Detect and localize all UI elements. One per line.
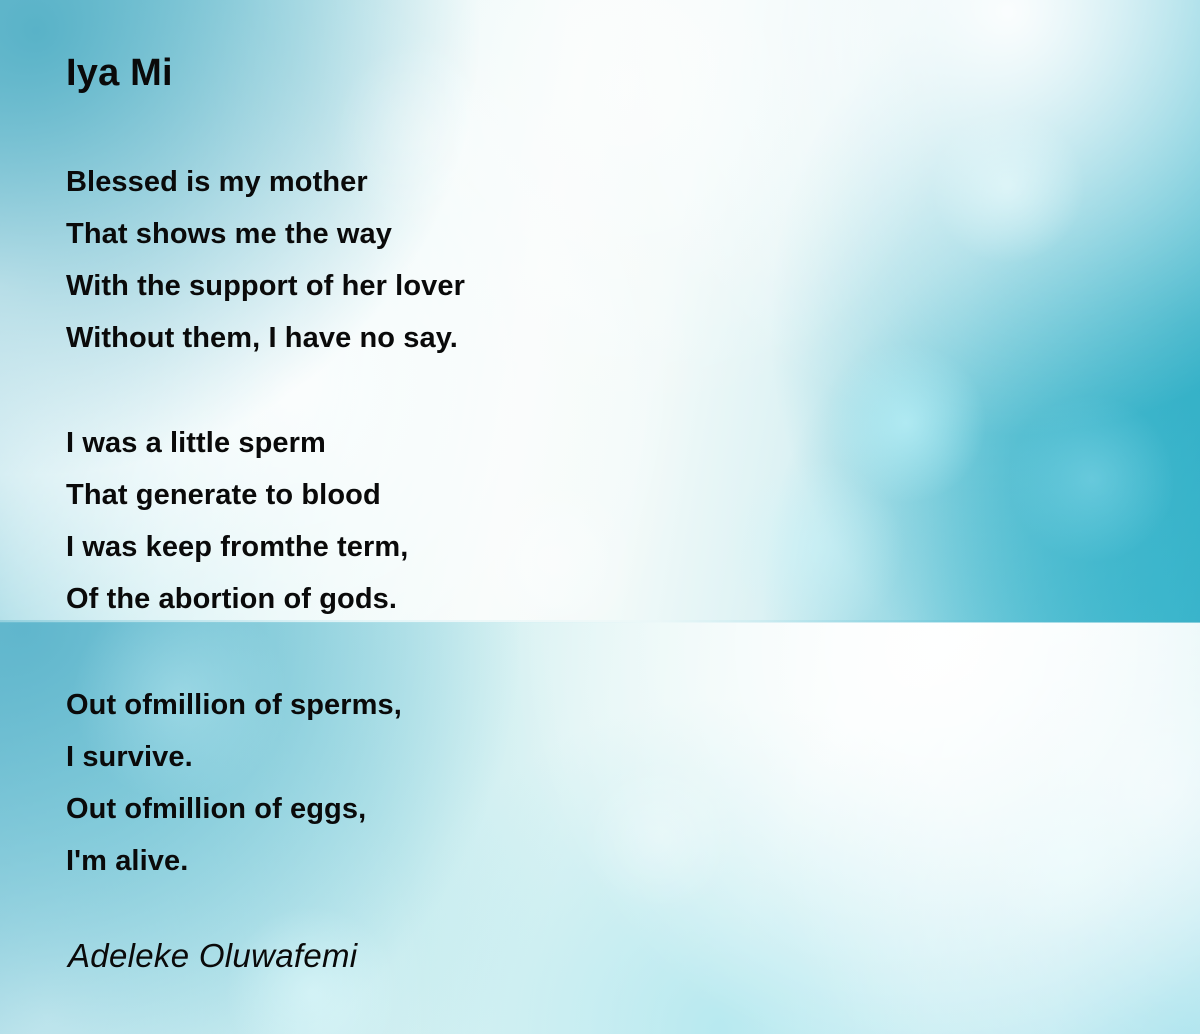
poem-line: That generate to blood — [66, 469, 408, 521]
poem-stanza: Blessed is my mother That shows me the w… — [66, 156, 465, 364]
poem-content: Iya Mi Blessed is my mother That shows m… — [0, 0, 1200, 1034]
poem-title: Iya Mi — [66, 52, 173, 95]
poem-line: I survive. — [66, 731, 402, 783]
poem-line: Out ofmillion of sperms, — [66, 679, 402, 731]
poem-stanza: I was a little sperm That generate to bl… — [66, 417, 408, 625]
poem-card: Iya Mi Blessed is my mother That shows m… — [0, 0, 1200, 1034]
poem-line: Of the abortion of gods. — [66, 573, 408, 625]
poem-line: Blessed is my mother — [66, 156, 465, 208]
poem-line: Out ofmillion of eggs, — [66, 783, 402, 835]
poem-line: I'm alive. — [66, 835, 402, 887]
poem-line: I was keep fromthe term, — [66, 521, 408, 573]
poem-line: Without them, I have no say. — [66, 312, 465, 364]
poem-author: Adeleke Oluwafemi — [68, 937, 357, 975]
poem-stanza: Out ofmillion of sperms, I survive. Out … — [66, 679, 402, 887]
poem-line: That shows me the way — [66, 208, 465, 260]
poem-line: With the support of her lover — [66, 260, 465, 312]
poem-line: I was a little sperm — [66, 417, 408, 469]
